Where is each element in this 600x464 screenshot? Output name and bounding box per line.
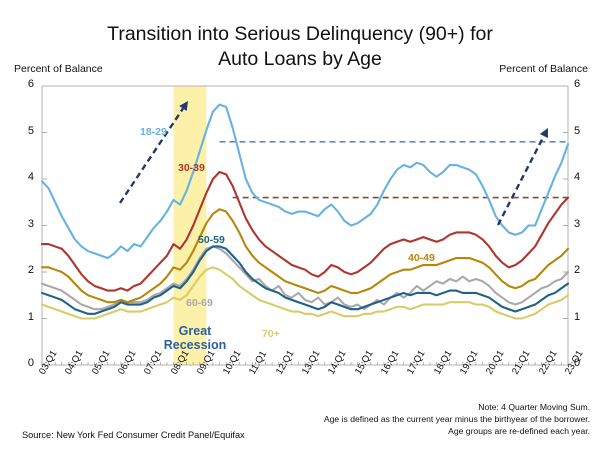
y-axis-label-left: 3 bbox=[10, 218, 34, 230]
chart-canvas bbox=[0, 0, 600, 464]
y-axis-label-right: 4 bbox=[574, 171, 598, 183]
series-label-60-69: 60-69 bbox=[186, 297, 213, 309]
series-line-30-39 bbox=[42, 172, 568, 291]
y-axis-label-right: 6 bbox=[574, 78, 598, 90]
series-label-50-59: 50-59 bbox=[198, 234, 225, 246]
y-axis-label-right: 5 bbox=[574, 125, 598, 137]
y-axis-label-right: 3 bbox=[574, 218, 598, 230]
chart-page: Transition into Serious Delinquency (90+… bbox=[0, 0, 600, 464]
y-axis-label-left: 0 bbox=[10, 357, 34, 369]
series-line-50-59 bbox=[42, 246, 568, 313]
series-line-18-29 bbox=[42, 105, 568, 258]
recession-label-line1: Great bbox=[140, 324, 250, 338]
y-axis-label-right: 1 bbox=[574, 311, 598, 323]
y-axis-label-left: 2 bbox=[10, 264, 34, 276]
series-label-70plus: 70+ bbox=[262, 328, 280, 340]
series-label-30-39: 30-39 bbox=[178, 162, 205, 174]
right-trend-arrow bbox=[498, 136, 544, 225]
y-axis-label-left: 5 bbox=[10, 125, 34, 137]
y-axis-label-left: 1 bbox=[10, 311, 34, 323]
great-recession-annotation: Great Recession bbox=[140, 324, 250, 352]
y-axis-label-right: 2 bbox=[574, 264, 598, 276]
series-label-40-49: 40-49 bbox=[408, 252, 435, 264]
plot-frame bbox=[42, 86, 568, 365]
note-line-2: Age is defined as the current year minus… bbox=[324, 414, 590, 424]
series-line-70plus bbox=[42, 267, 568, 318]
note-line-3: Age groups are re-defined each year. bbox=[448, 426, 590, 436]
y-axis-label-left: 6 bbox=[10, 78, 34, 90]
right-trend-arrow-head bbox=[540, 128, 548, 138]
y-axis-label-left: 4 bbox=[10, 171, 34, 183]
source-caption: Source: New York Fed Consumer Credit Pan… bbox=[22, 430, 245, 440]
note-line-1: Note: 4 Quarter Moving Sum. bbox=[478, 402, 590, 412]
recession-label-line2: Recession bbox=[140, 338, 250, 352]
series-label-18-29: 18-29 bbox=[140, 126, 167, 138]
